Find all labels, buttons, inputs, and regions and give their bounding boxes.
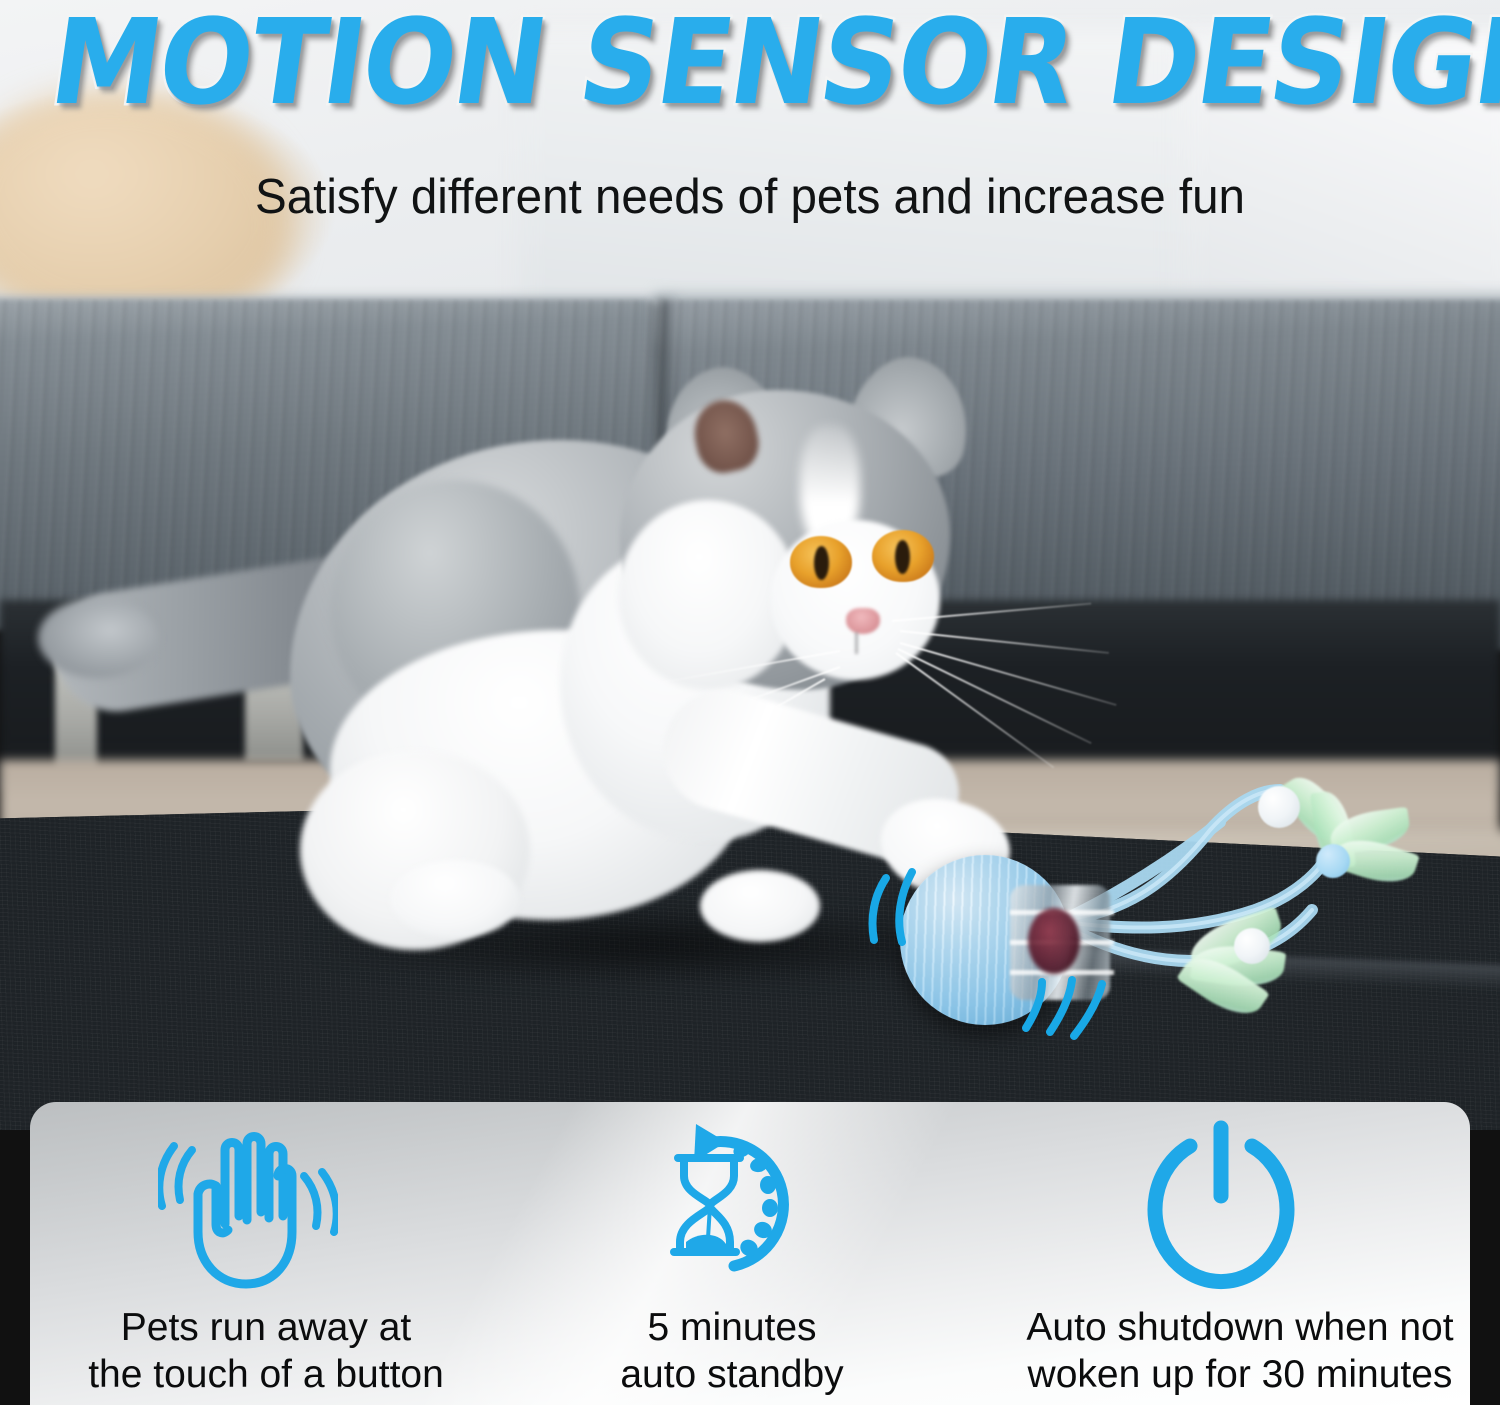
waving-hand-motion-icon [158,1120,338,1292]
cat-whisker [898,648,1092,744]
feature-item: Pets run away at the touch of a button [30,1102,510,1405]
feature-item: 5 minutes auto standby [510,1102,990,1405]
cat-tail-tip [38,598,158,678]
cat-pupil-right [895,540,910,574]
cat-nose [846,608,880,634]
cat-whisker [900,642,1117,706]
feature-caption: Pets run away at the touch of a button [88,1304,444,1398]
power-button-icon [1130,1120,1310,1292]
feature-item: Auto shutdown when not woken up for 30 m… [990,1102,1470,1405]
hourglass-timer-icon [622,1120,802,1292]
toy-motion-arcs [860,760,1500,1060]
cat-mouth [855,632,858,654]
product-marketing-image: MOTION SENSOR DESIGN Satisfy different n… [0,0,1500,1405]
feature-caption: 5 minutes auto standby [620,1304,843,1398]
feature-caption: Auto shutdown when not woken up for 30 m… [1026,1304,1453,1398]
page-subtitle: Satisfy different needs of pets and incr… [23,168,1478,226]
feature-panel: Pets run away at the touch of a button [30,1102,1470,1405]
cat-paw [700,870,820,942]
page-title: MOTION SENSOR DESIGN [43,0,1457,128]
cat-paw [390,860,520,938]
cat-toy-product [860,760,1500,1060]
cat-pupil-left [814,546,829,580]
